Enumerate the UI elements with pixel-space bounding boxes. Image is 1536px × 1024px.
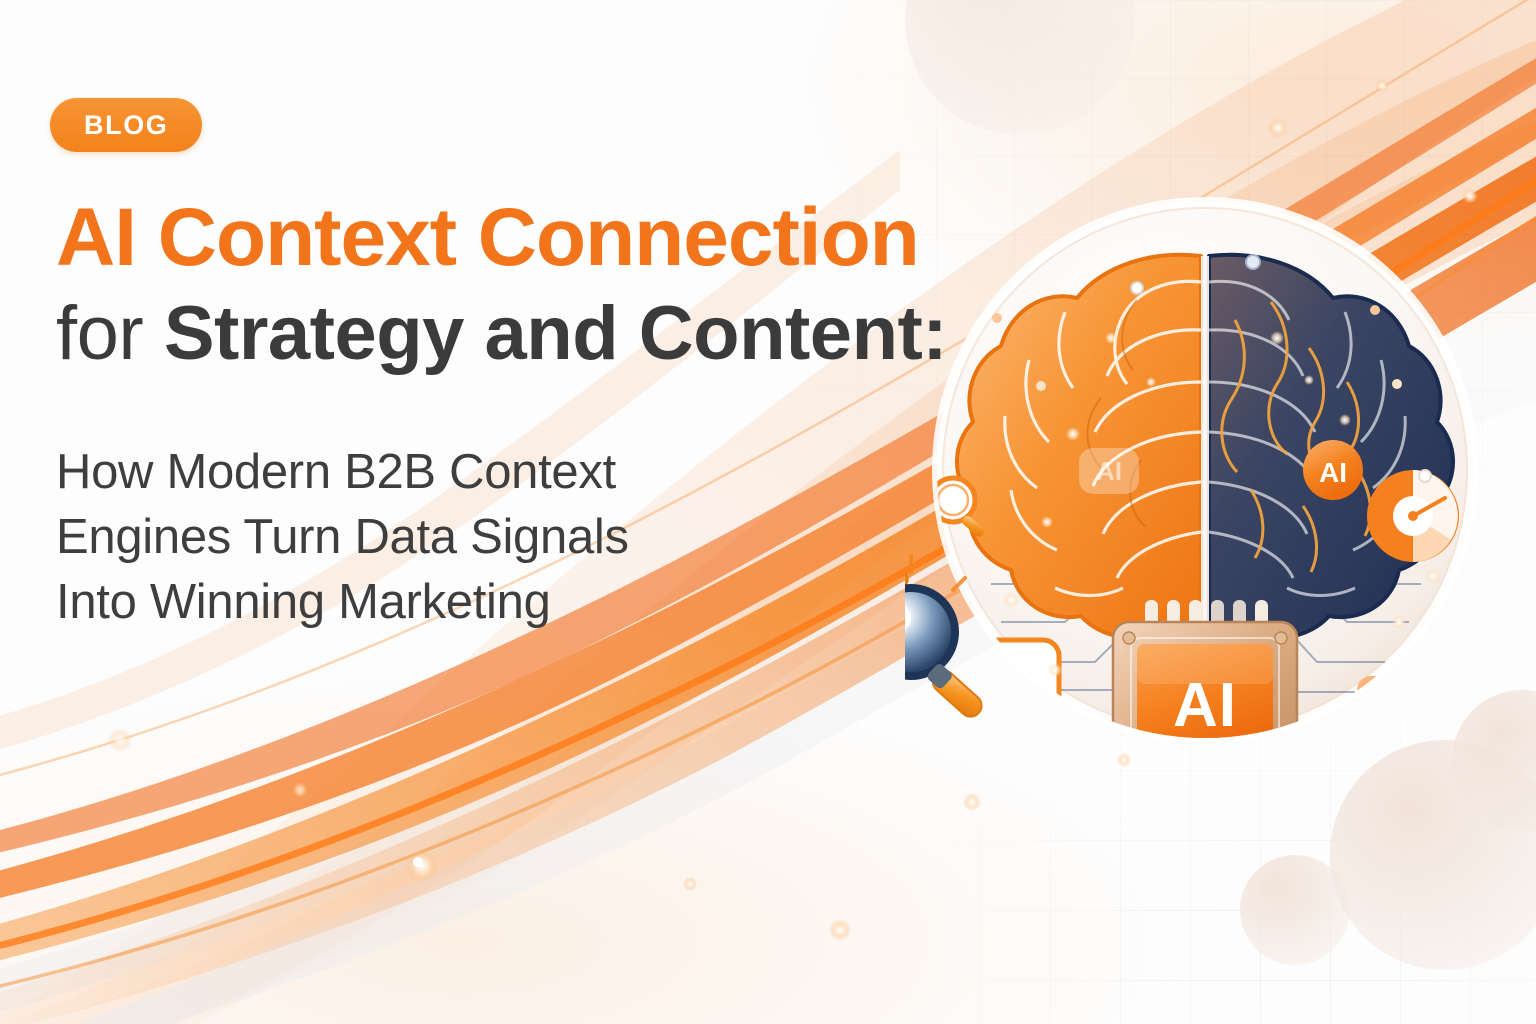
brain-right-ai-label: AI: [1319, 457, 1347, 488]
brain-right-ai-badge: AI: [1303, 440, 1363, 500]
category-badge-label: BLOG: [84, 110, 168, 141]
headline-line-2: for Strategy and Content:: [56, 294, 1046, 374]
subtitle-line-1: How Modern B2B Context: [56, 440, 796, 505]
headline-line-2-bold: Strategy and Content:: [164, 291, 947, 376]
bar-chart-growth-icon: [1055, 730, 1137, 770]
ai-chip: AI: [1113, 622, 1297, 770]
subtitle-line-2: Engines Turn Data Signals: [56, 505, 796, 570]
donut-chart-icon: [1367, 470, 1459, 562]
ai-chip-label: AI: [1173, 671, 1237, 740]
page-subtitle: How Modern B2B Context Engines Turn Data…: [56, 440, 796, 635]
headline-line-1: AI Context Connection: [56, 196, 1046, 280]
brain-left-ai-label: AI: [1096, 456, 1122, 486]
banner-canvas: AI: [0, 0, 1536, 1024]
brain-left-ai-badge: AI: [1079, 448, 1139, 494]
subtitle-line-3: Into Winning Marketing: [56, 570, 796, 635]
headline-line-2-regular: for: [56, 291, 164, 376]
page-title: AI Context Connection for Strategy and C…: [56, 196, 1046, 373]
double-chevron-icon: [1357, 676, 1439, 758]
category-badge[interactable]: BLOG: [50, 98, 202, 152]
